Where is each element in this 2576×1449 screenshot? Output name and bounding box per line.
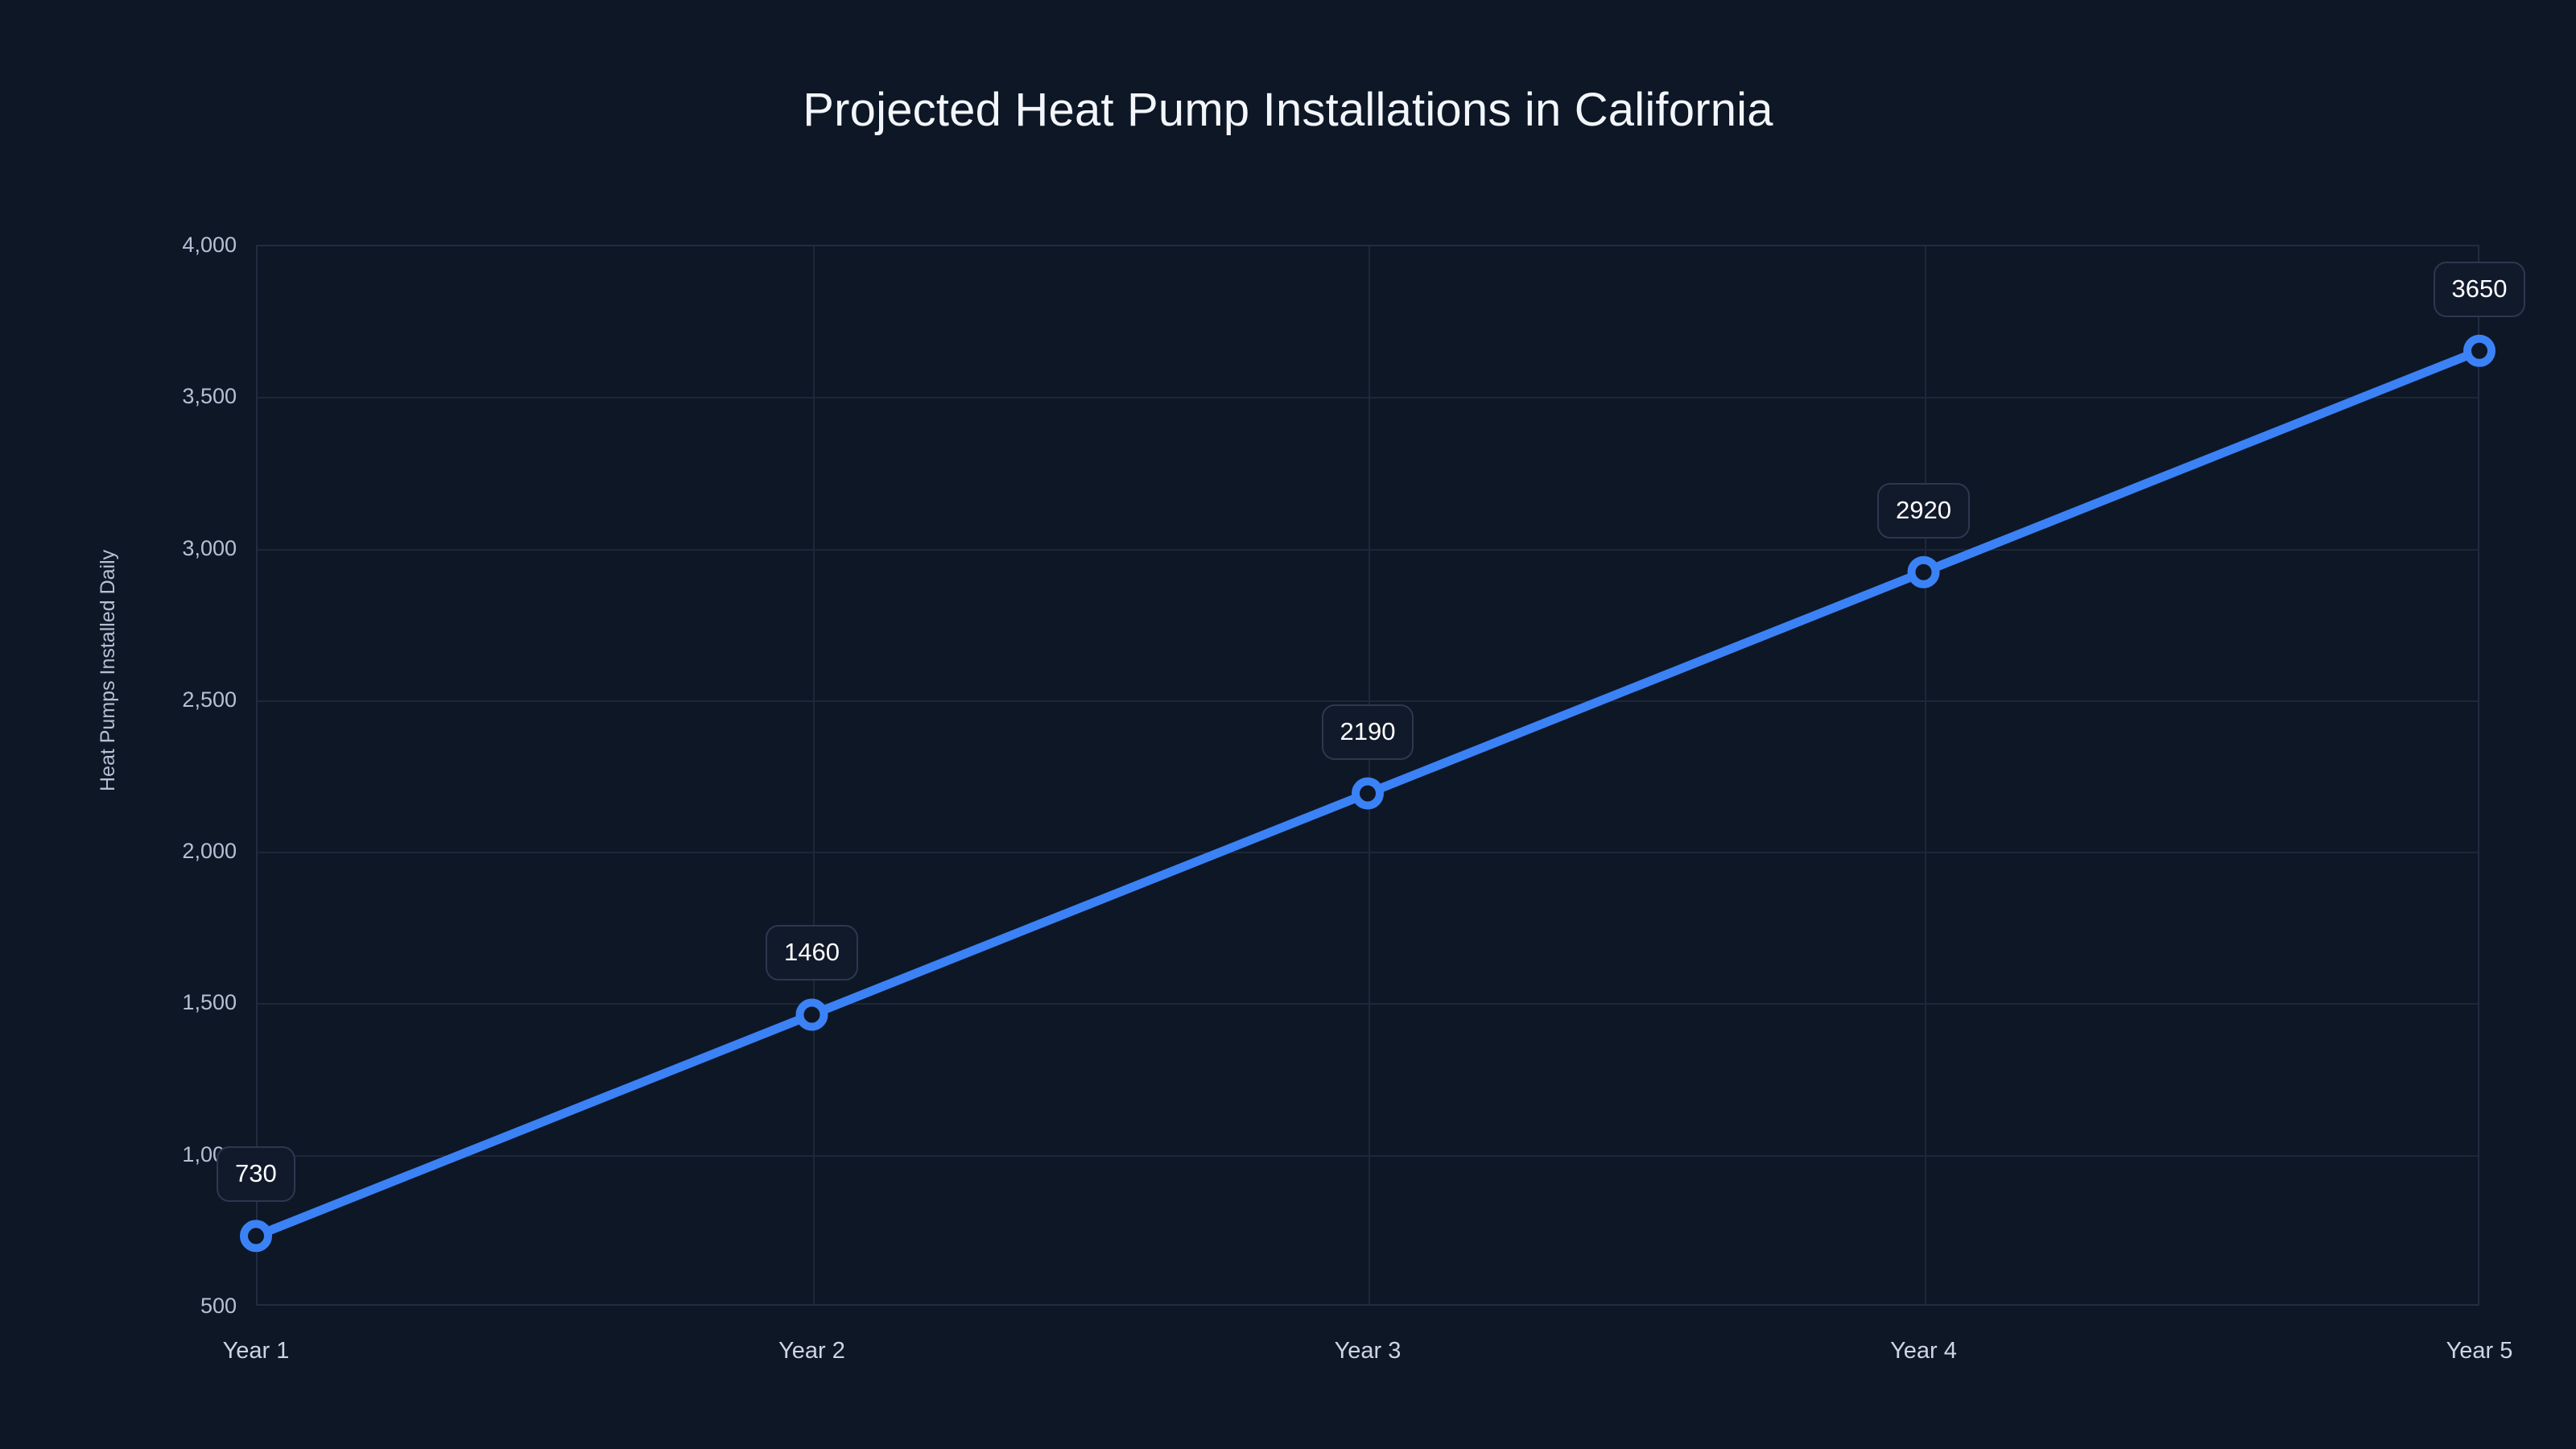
data-point-value-label: 730 [217,1146,295,1202]
data-point-marker[interactable] [244,1224,268,1248]
data-point-value-label: 2920 [1877,483,1970,539]
series-markers [244,339,2491,1249]
data-point-value-label: 3650 [2434,262,2526,317]
data-point-value-label: 1460 [766,925,858,980]
data-point-marker[interactable] [800,1002,824,1026]
data-point-marker[interactable] [1356,782,1380,806]
chart-container: Projected Heat Pump Installations in Cal… [0,0,2576,1449]
data-point-marker[interactable] [2467,339,2491,363]
data-point-marker[interactable] [1912,560,1936,584]
line-series-layer [0,0,2576,1449]
data-point-value-label: 2190 [1322,704,1414,760]
